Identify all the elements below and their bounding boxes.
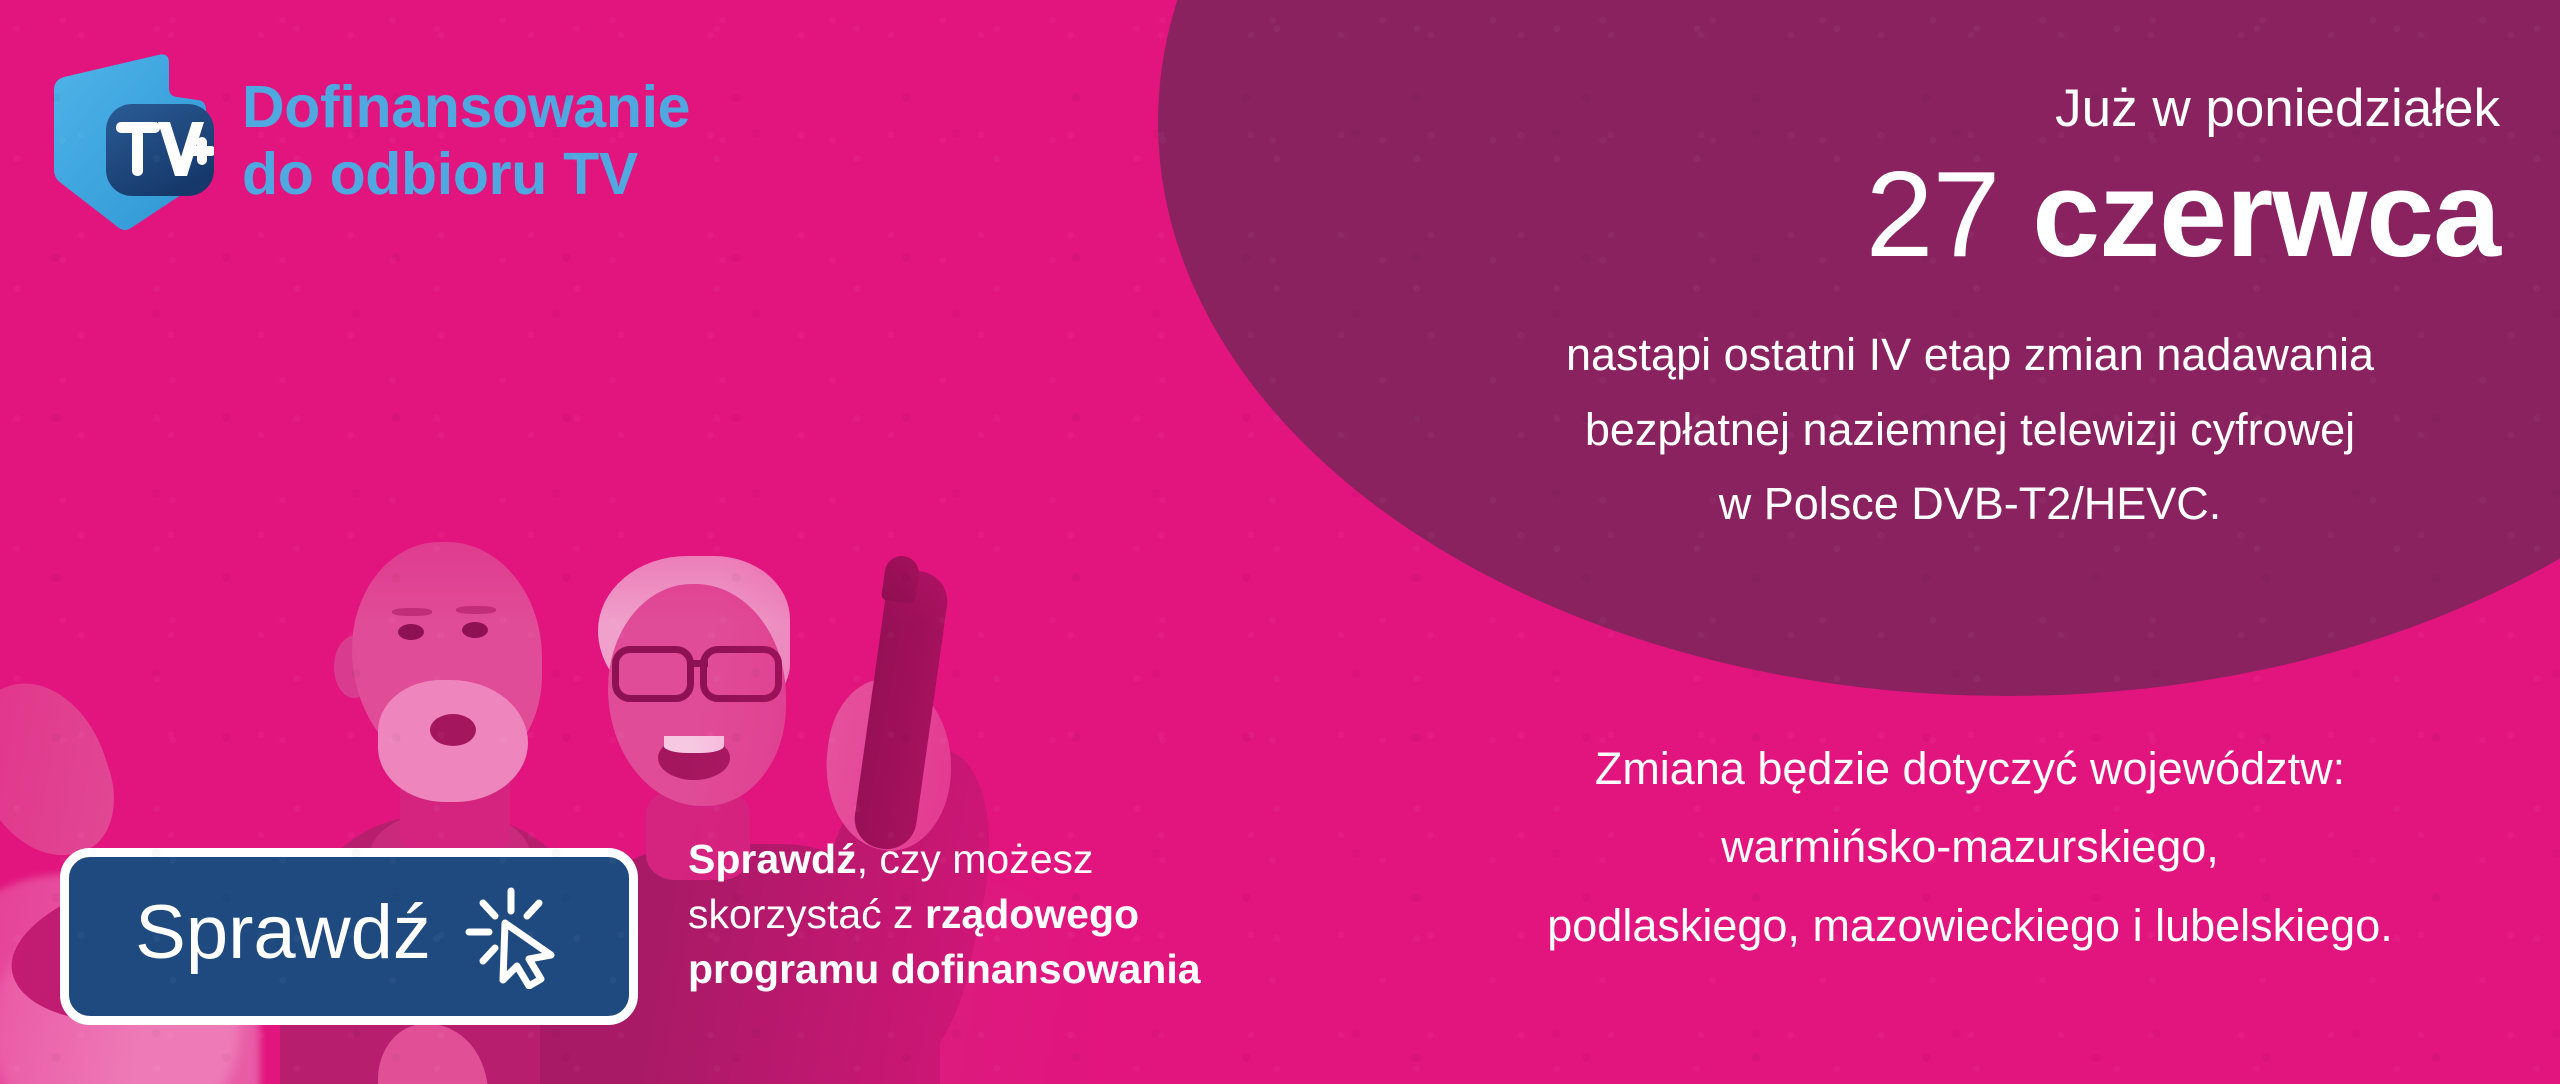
click-cursor-icon xyxy=(459,885,563,989)
cta-copy-line-2: skorzystać z rządowego xyxy=(688,887,1328,942)
sprawdz-button-label: Sprawdź xyxy=(135,895,431,979)
paragraph-line: nastąpi ostatni IV etap zmian nadawania xyxy=(1420,318,2520,393)
cursor-arrow xyxy=(503,923,551,986)
promo-banner: Dofinansowanie do odbioru TV Sprawdź Spr… xyxy=(0,0,2560,1084)
brand-lockup: Dofinansowanie do odbioru TV xyxy=(36,52,690,230)
cta-copy-strong-1: Sprawdź xyxy=(688,836,857,882)
cta-copy-line-1: Sprawdź, czy możesz xyxy=(688,832,1328,887)
regions-line: warmińsko-mazurskiego, xyxy=(1420,808,2520,886)
logo-title: Dofinansowanie do odbioru TV xyxy=(242,74,690,207)
date-month: czerwca xyxy=(2032,146,2500,282)
regions-paragraph: Zmiana będzie dotyczyć województw: warmi… xyxy=(1420,730,2520,965)
cta-copy: Sprawdź, czy możesz skorzystać z rządowe… xyxy=(688,832,1328,997)
date-day: 27 xyxy=(1866,146,2000,282)
right-content-column: Już w poniedziałek 27 czerwca nastąpi os… xyxy=(1380,0,2560,1084)
photo-top-fade xyxy=(0,324,1100,624)
paragraph-line: w Polsce DVB-T2/HEVC. xyxy=(1420,467,2520,542)
regions-line: podlaskiego, mazowieckiego i lubelskiego… xyxy=(1420,887,2520,965)
cta-copy-line-3: programu dofinansowania xyxy=(688,942,1328,997)
cta-copy-plain-2: skorzystać z xyxy=(688,891,925,937)
cta-copy-strong-2: rządowego xyxy=(925,891,1139,937)
paragraph-line: bezpłatnej naziemnej telewizji cyfrowej xyxy=(1420,393,2520,468)
shield-icon xyxy=(36,52,214,230)
main-paragraph: nastąpi ostatni IV etap zmian nadawania … xyxy=(1420,318,2520,542)
sprawdz-button[interactable]: Sprawdź xyxy=(60,848,638,1025)
cta-copy-strong-3: programu dofinansowania xyxy=(688,946,1201,992)
date-headline: 27 czerwca xyxy=(1380,146,2500,283)
regions-line: Zmiana będzie dotyczyć województw: xyxy=(1420,730,2520,808)
cta-copy-plain-1: , czy możesz xyxy=(857,836,1094,882)
tv-plus-logo xyxy=(36,52,214,230)
date-eyebrow: Już w poniedziałek xyxy=(1380,82,2500,135)
